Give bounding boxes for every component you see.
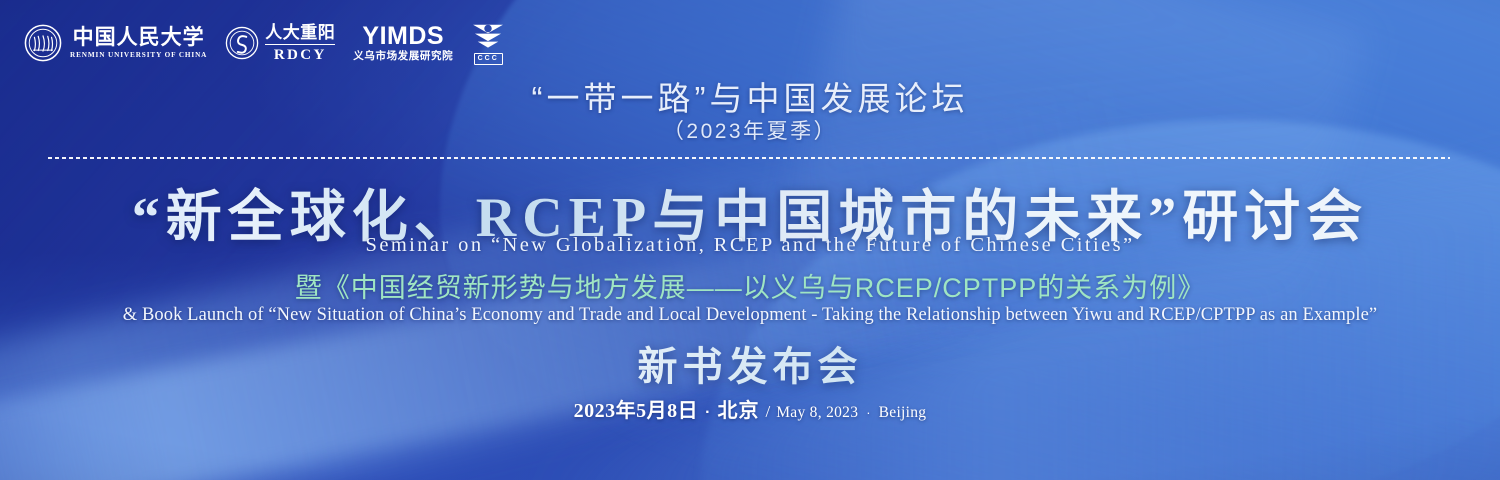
event-separator: · — [698, 404, 717, 422]
rdcy-name-en: RDCY — [274, 48, 327, 63]
banner-content: “一带一路”与中国发展论坛 （2023年夏季） “新全球化、RCEP与中国城市的… — [0, 0, 1500, 480]
logo-rdcy: 人大重阳 RDCY — [225, 24, 335, 62]
event-date-en: May 8, 2023 — [776, 404, 858, 422]
logo-ccc: CCC — [471, 22, 505, 65]
ccc-chevron-icon — [471, 22, 505, 50]
event-date-location: 2023年5月8日 · 北京 / May 8, 2023 · Beijing — [0, 394, 1500, 423]
rdcy-name-cn: 人大重阳 — [265, 24, 335, 41]
book-title-en: & Book Launch of “New Situation of China… — [0, 305, 1500, 326]
ruc-text-block: 中国人民大学 RENMIN UNIVERSITY OF CHINA — [70, 27, 207, 59]
ccc-label: CCC — [474, 53, 503, 65]
logo-yimds: YIMDS 义乌市场发展研究院 — [353, 24, 453, 63]
book-title-cn: 暨《中国经贸新形势与地方发展——以义乌与RCEP/CPTPP的关系为例》 — [0, 266, 1500, 305]
event-date-cn: 2023年5月8日 — [574, 394, 699, 423]
event-separator-2: · — [858, 405, 878, 420]
rdcy-divider — [265, 44, 335, 45]
event-city-en: Beijing — [879, 404, 927, 422]
forum-title: “一带一路”与中国发展论坛 — [0, 72, 1500, 120]
rdcy-text-block: 人大重阳 RDCY — [265, 24, 335, 62]
conference-banner: 中国人民大学 RENMIN UNIVERSITY OF CHINA 人大重阳 R… — [0, 0, 1500, 480]
divider-line — [48, 157, 1450, 159]
event-slash: / — [759, 402, 776, 422]
yimds-name-en: YIMDS — [362, 24, 444, 49]
rdcy-seal-icon — [225, 26, 259, 60]
ruc-name-cn: 中国人民大学 — [73, 27, 205, 48]
logo-renmin-university: 中国人民大学 RENMIN UNIVERSITY OF CHINA — [24, 24, 207, 62]
ruc-seal-icon — [24, 24, 62, 62]
ruc-name-en: RENMIN UNIVERSITY OF CHINA — [70, 52, 207, 59]
logo-bar: 中国人民大学 RENMIN UNIVERSITY OF CHINA 人大重阳 R… — [24, 22, 505, 65]
yimds-name-cn: 义乌市场发展研究院 — [353, 52, 453, 63]
seminar-title-en: Seminar on “New Globalization, RCEP and … — [0, 234, 1500, 257]
forum-season: （2023年夏季） — [0, 115, 1500, 145]
book-launch-cn: 新书发布会 — [0, 334, 1500, 392]
event-city-cn: 北京 — [717, 394, 759, 423]
